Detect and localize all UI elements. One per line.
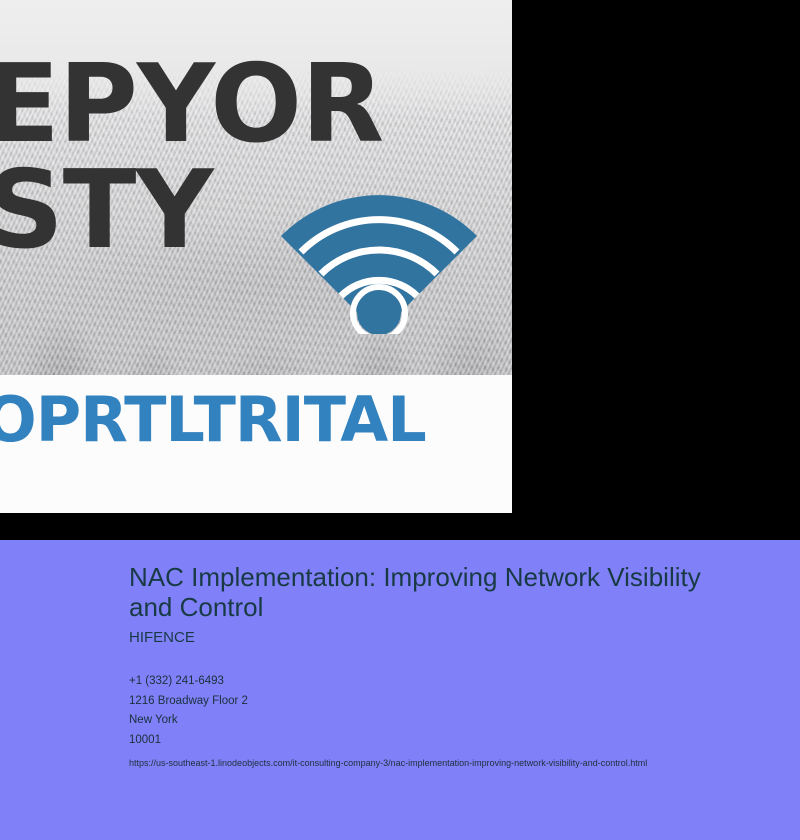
hero-image: EPYOR STY OPRTLTRITAL xyxy=(0,0,512,513)
contact-street: 1216 Broadway Floor 2 xyxy=(129,692,788,712)
organization-name: HIFENCE xyxy=(129,629,788,646)
page-title: NAC Implementation: Improving Network Vi… xyxy=(129,562,729,623)
info-panel-content: NAC Implementation: Improving Network Vi… xyxy=(129,562,788,769)
contact-postal-code: 10001 xyxy=(129,731,788,751)
hero-brand-band: OPRTLTRITAL xyxy=(0,375,512,513)
contact-phone: +1 (332) 241-6493 xyxy=(129,672,788,692)
contact-block: +1 (332) 241-6493 1216 Broadway Floor 2 … xyxy=(129,672,788,751)
info-panel: NAC Implementation: Improving Network Vi… xyxy=(0,540,800,840)
wifi-icon xyxy=(281,186,477,334)
page-url[interactable]: https://us-southeast-1.linodeobjects.com… xyxy=(129,757,788,770)
hero-brand-band-text: OPRTLTRITAL xyxy=(0,383,426,456)
contact-city: New York xyxy=(129,711,788,731)
